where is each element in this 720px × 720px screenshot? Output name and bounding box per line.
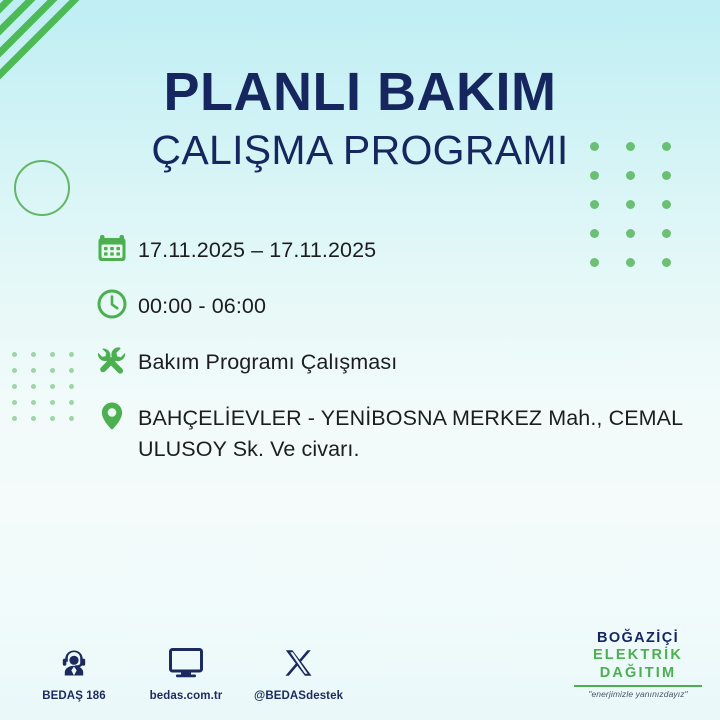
detail-row-date: 17.11.2025 – 17.11.2025 — [96, 228, 696, 268]
detail-row-work-type: Bakım Programı Çalışması — [96, 340, 696, 380]
map-pin-icon — [96, 396, 138, 436]
title-secondary: ÇALIŞMA PROGRAMI — [0, 127, 720, 174]
brand-logo: BOĞAZİÇİ ELEKTRİK DAĞITIM "enerjimizle y… — [572, 631, 704, 699]
contact-social-label: @BEDASdestek — [254, 690, 342, 702]
contact-social[interactable]: @BEDASdestek — [254, 643, 342, 702]
brand-line-1: BOĞAZİÇİ — [572, 631, 704, 646]
poster-heading: PLANLI BAKIM ÇALIŞMA PROGRAMI — [0, 64, 720, 174]
title-primary: PLANLI BAKIM — [0, 64, 720, 121]
planned-maintenance-poster: PLANLI BAKIM ÇALIŞMA PROGRAMI — [0, 0, 720, 720]
monitor-icon — [142, 643, 230, 683]
brand-line-3: DAĞITIM — [572, 666, 704, 681]
headset-support-icon — [30, 643, 118, 683]
calendar-icon — [96, 228, 138, 268]
dot-grid-left-decoration — [12, 352, 88, 432]
contact-phone[interactable]: BEDAŞ 186 — [30, 643, 118, 702]
x-twitter-icon — [254, 643, 342, 683]
contact-website-label: bedas.com.tr — [142, 690, 230, 702]
brand-divider — [574, 685, 702, 687]
detail-date-range: 17.11.2025 – 17.11.2025 — [138, 228, 376, 266]
tools-icon — [96, 340, 138, 380]
detail-work-type: Bakım Programı Çalışması — [138, 340, 397, 378]
brand-line-2: ELEKTRİK — [572, 648, 704, 663]
detail-row-time: 00:00 - 06:00 — [96, 284, 696, 324]
footer-contacts: BEDAŞ 186 bedas.com.tr @BEDASdestek — [30, 643, 342, 702]
maintenance-details: 17.11.2025 – 17.11.2025 00:00 - 06:00 — [96, 228, 696, 481]
contact-website[interactable]: bedas.com.tr — [142, 643, 230, 702]
clock-icon — [96, 284, 138, 324]
detail-location: BAHÇELİEVLER - YENİBOSNA MERKEZ Mah., CE… — [138, 396, 696, 465]
brand-tagline: "enerjimizle yanınızdayız" — [572, 690, 704, 699]
contact-phone-label: BEDAŞ 186 — [30, 690, 118, 702]
detail-row-location: BAHÇELİEVLER - YENİBOSNA MERKEZ Mah., CE… — [96, 396, 696, 465]
detail-time-range: 00:00 - 06:00 — [138, 284, 266, 322]
